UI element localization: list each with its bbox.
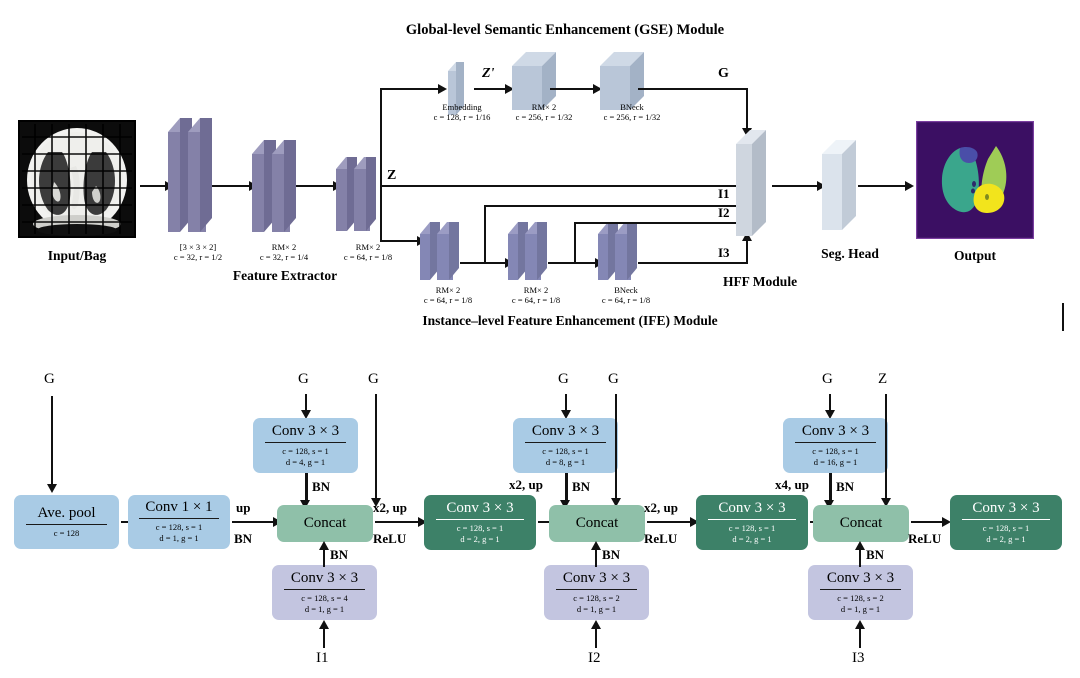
concat-1-label: Concat bbox=[304, 516, 347, 531]
fe-block-1-graphic bbox=[168, 118, 224, 240]
top-conv-3-rule bbox=[795, 442, 877, 443]
arrowhead-i2-into-bottomconv2 bbox=[591, 620, 601, 629]
edge-label-bn-bottomconv2: BN bbox=[602, 547, 620, 563]
line-z-to-hff bbox=[380, 185, 744, 187]
arrowhead-bottomconv3-to-concat3 bbox=[855, 541, 865, 550]
bottom-input-g-5: G bbox=[608, 371, 619, 388]
line-i1-right bbox=[484, 205, 742, 207]
bottom-input-i1: I1 bbox=[316, 650, 329, 667]
gse-module-title: Global-level Semantic Enhancement (GSE) … bbox=[330, 22, 800, 39]
edge-label-relu-3: ReLU bbox=[908, 531, 941, 547]
line-gse-to-g bbox=[638, 88, 748, 90]
label-i1: I1 bbox=[718, 186, 730, 202]
ife-block-3 bbox=[598, 222, 650, 284]
arrowhead-i1-into-bottomconv1 bbox=[319, 620, 329, 629]
feature-extractor-block-2 bbox=[252, 140, 308, 240]
arrow-embedding-to-rm bbox=[474, 88, 506, 90]
main-conv-box-3[interactable]: Conv 3 × 3 c = 128, s = 1 d = 2, g = 1 bbox=[950, 495, 1062, 550]
line-i2-into-bottomconv2 bbox=[595, 626, 597, 648]
gse-rm-caption: RM× 2 c = 256, r = 1/32 bbox=[498, 103, 590, 123]
bottom-conv-1-params: c = 128, s = 4 d = 1, g = 1 bbox=[297, 592, 351, 616]
arrow-input-to-fe1 bbox=[140, 185, 166, 187]
line-i3-into-bottomconv3 bbox=[859, 626, 861, 648]
label-g-gse: G bbox=[718, 66, 729, 82]
fe-block-2-graphic bbox=[252, 140, 308, 240]
bottom-conv-1-line1: c = 128, s = 4 bbox=[301, 593, 347, 604]
top-conv-2-params: c = 128, s = 1 d = 8, g = 1 bbox=[538, 445, 592, 469]
hff-module-title: HFF Module bbox=[700, 274, 820, 290]
bottom-conv-3-params: c = 128, s = 2 d = 1, g = 1 bbox=[833, 592, 887, 616]
feature-extractor-block-1 bbox=[168, 118, 224, 240]
bottom-conv-1-rule bbox=[284, 589, 366, 590]
feature-extractor-title: Feature Extractor bbox=[175, 268, 395, 284]
bottom-conv-3-line1: c = 128, s = 2 bbox=[837, 593, 883, 604]
arrow-hff-to-seghead bbox=[772, 185, 818, 187]
ave-pool-box[interactable]: Ave. pool c = 128 bbox=[14, 495, 119, 549]
top-conv-1-title: Conv 3 × 3 bbox=[262, 422, 349, 442]
main-conv-1-line2: d = 2, g = 1 bbox=[457, 534, 503, 545]
arrowhead-i3-into-bottomconv3 bbox=[855, 620, 865, 629]
ife-block-3-caption: BNeck c = 64, r = 1/8 bbox=[582, 286, 670, 306]
top-conv-2-line2: d = 8, g = 1 bbox=[542, 457, 588, 468]
ife-block-1-params: c = 64, r = 1/8 bbox=[404, 296, 492, 306]
z-split-vertical bbox=[380, 88, 382, 240]
edge-label-bn-topconv2: BN bbox=[572, 479, 590, 495]
top-conv-2-line1: c = 128, s = 1 bbox=[542, 446, 588, 457]
arrow-ife2-to-ife3 bbox=[548, 262, 596, 264]
label-z: Z bbox=[387, 168, 396, 184]
line-topconv2-to-concat2 bbox=[565, 473, 568, 503]
ife-module-title: Instance–level Feature Enhancement (IFE)… bbox=[350, 313, 790, 329]
bottom-input-g-1: G bbox=[44, 371, 55, 388]
top-conv-3-params: c = 128, s = 1 d = 16, g = 1 bbox=[808, 445, 862, 469]
edge-label-scale-topconv3: x4, up bbox=[775, 477, 809, 493]
bottom-conv-3-line2: d = 1, g = 1 bbox=[837, 604, 883, 615]
bottom-conv-3-rule bbox=[820, 589, 902, 590]
main-conv-2-line2: d = 2, g = 1 bbox=[729, 534, 775, 545]
main-conv-1-line1: c = 128, s = 1 bbox=[457, 523, 503, 534]
ife-block-3-params: c = 64, r = 1/8 bbox=[582, 296, 670, 306]
line-i1-up bbox=[484, 205, 486, 263]
bottom-conv-1-title: Conv 3 × 3 bbox=[281, 569, 368, 589]
concat-2-label: Concat bbox=[576, 516, 619, 531]
line-i3-up bbox=[746, 240, 748, 264]
line-bottomconv1-to-concat1 bbox=[323, 549, 325, 567]
top-conv-box-1[interactable]: Conv 3 × 3 c = 128, s = 1 d = 4, g = 1 bbox=[253, 418, 358, 473]
line-g3-down bbox=[375, 394, 377, 500]
arrow-ife1-to-ife2 bbox=[460, 262, 506, 264]
main-conv-3-title: Conv 3 × 3 bbox=[962, 499, 1049, 519]
fe-block-2-caption: RM× 2 c = 32, r = 1/4 bbox=[238, 243, 330, 263]
ife-block-1 bbox=[420, 222, 472, 284]
concat-3-label: Concat bbox=[840, 516, 883, 531]
conv1x1-params: c = 128, s = 1 d = 1, g = 1 bbox=[152, 521, 206, 545]
ct-scan-graphic bbox=[18, 120, 136, 238]
top-conv-1-line2: d = 4, g = 1 bbox=[282, 457, 328, 468]
conv1x1-line2: d = 1, g = 1 bbox=[156, 533, 202, 544]
fe-block-2-params: c = 32, r = 1/4 bbox=[238, 253, 330, 263]
edge-label-relu-2: ReLU bbox=[644, 531, 677, 547]
line-concat2-to-mainconv2 bbox=[647, 521, 691, 523]
conv1x1-line1: c = 128, s = 1 bbox=[156, 522, 202, 533]
fe-block-1-caption: [3 × 3 × 2] c = 32, r = 1/2 bbox=[150, 243, 246, 263]
input-bag-label: Input/Bag bbox=[18, 248, 136, 264]
bottom-conv-2-title: Conv 3 × 3 bbox=[553, 569, 640, 589]
bottom-conv-box-1[interactable]: Conv 3 × 3 c = 128, s = 4 d = 1, g = 1 bbox=[272, 565, 377, 620]
ife-block-1-graphic bbox=[420, 222, 472, 284]
ife-block-3-graphic bbox=[598, 222, 650, 284]
ife-block-2-params: c = 64, r = 1/8 bbox=[492, 296, 580, 306]
bottom-conv-2-line2: d = 1, g = 1 bbox=[573, 604, 619, 615]
concat-box-1[interactable]: Concat bbox=[277, 505, 373, 542]
bottom-input-i3: I3 bbox=[852, 650, 865, 667]
main-conv-box-1[interactable]: Conv 3 × 3 c = 128, s = 1 d = 2, g = 1 bbox=[424, 495, 536, 550]
line-topconv1-to-concat1 bbox=[305, 473, 308, 503]
edge-label-scale-1: x2, up bbox=[373, 500, 407, 516]
output-seg-graphic bbox=[916, 121, 1034, 239]
line-g5-down bbox=[615, 394, 617, 500]
seg-head-label: Seg. Head bbox=[800, 246, 900, 262]
line-topconv3-to-concat3 bbox=[829, 473, 832, 503]
ife-block-2-graphic bbox=[508, 222, 560, 284]
gse-rm-params: c = 256, r = 1/32 bbox=[498, 113, 590, 123]
label-z-prime: Z' bbox=[482, 66, 494, 82]
gse-embedding-caption: Embedding c = 128, r = 1/16 bbox=[412, 103, 512, 123]
main-conv-3-line1: c = 128, s = 1 bbox=[983, 523, 1029, 534]
arrow-seghead-to-output bbox=[858, 185, 906, 187]
fe-block-3-params: c = 64, r = 1/8 bbox=[322, 253, 414, 263]
main-conv-box-2[interactable]: Conv 3 × 3 c = 128, s = 1 d = 2, g = 1 bbox=[696, 495, 808, 550]
bottom-conv-2-line1: c = 128, s = 2 bbox=[573, 593, 619, 604]
main-conv-2-rule bbox=[708, 519, 795, 520]
arrowhead-seghead-to-output bbox=[905, 181, 914, 191]
ife-block-2 bbox=[508, 222, 560, 284]
main-conv-1-rule bbox=[436, 519, 523, 520]
seg-head-block bbox=[822, 140, 874, 240]
gse-bneck-params: c = 256, r = 1/32 bbox=[586, 113, 678, 123]
arrowhead-bottomconv2-to-concat2 bbox=[591, 541, 601, 550]
main-conv-2-title: Conv 3 × 3 bbox=[708, 499, 795, 519]
bottom-input-g-3: G bbox=[368, 371, 379, 388]
fe-block-3-caption: RM× 2 c = 64, r = 1/8 bbox=[322, 243, 414, 263]
main-conv-3-rule bbox=[962, 519, 1049, 520]
arrow-gse-rm-to-bneck bbox=[550, 88, 594, 90]
label-i3: I3 bbox=[718, 245, 730, 261]
gse-embedding-params: c = 128, r = 1/16 bbox=[412, 113, 512, 123]
bottom-input-i2: I2 bbox=[588, 650, 601, 667]
arrow-fe2-to-fe3 bbox=[296, 185, 334, 187]
top-conv-2-rule bbox=[525, 442, 607, 443]
input-ct-image bbox=[18, 120, 136, 238]
top-conv-2-title: Conv 3 × 3 bbox=[522, 422, 609, 442]
line-i2-right bbox=[574, 222, 742, 224]
label-i2: I2 bbox=[718, 205, 730, 221]
gse-bneck-caption: BNeck c = 256, r = 1/32 bbox=[586, 103, 678, 123]
seg-head-graphic bbox=[822, 140, 874, 240]
bottom-conv-2-rule bbox=[556, 589, 638, 590]
edge-label-bn-1: BN bbox=[234, 531, 252, 547]
arrowhead-bottomconv1-to-concat1 bbox=[319, 541, 329, 550]
line-concat3-to-mainconv3 bbox=[911, 521, 943, 523]
bottom-conv-3-title: Conv 3 × 3 bbox=[817, 569, 904, 589]
bottom-conv-box-3[interactable]: Conv 3 × 3 c = 128, s = 2 d = 1, g = 1 bbox=[808, 565, 913, 620]
line-g1-down bbox=[51, 396, 53, 486]
output-segmentation-image bbox=[916, 121, 1034, 239]
edge-label-scale-2: x2, up bbox=[644, 500, 678, 516]
bottom-input-g-6: G bbox=[822, 371, 833, 388]
arrow-z-to-embedding bbox=[380, 88, 440, 90]
line-i2-up bbox=[574, 222, 576, 263]
top-conv-1-line1: c = 128, s = 1 bbox=[282, 446, 328, 457]
edge-label-bn-bottomconv1: BN bbox=[330, 547, 348, 563]
main-conv-2-line1: c = 128, s = 1 bbox=[729, 523, 775, 534]
main-conv-2-params: c = 128, s = 1 d = 2, g = 1 bbox=[725, 522, 779, 546]
line-g-down-to-hff bbox=[746, 88, 748, 130]
main-conv-1-title: Conv 3 × 3 bbox=[436, 499, 523, 519]
concat-box-3[interactable]: Concat bbox=[813, 505, 909, 542]
main-conv-3-line2: d = 2, g = 1 bbox=[983, 534, 1029, 545]
page-edge-tick bbox=[1062, 303, 1064, 331]
edge-label-relu-1: ReLU bbox=[373, 531, 406, 547]
bottom-input-z: Z bbox=[878, 371, 887, 388]
line-z-down bbox=[885, 394, 887, 500]
top-conv-3-line2: d = 16, g = 1 bbox=[812, 457, 858, 468]
edge-label-bn-topconv1: BN bbox=[312, 479, 330, 495]
top-conv-1-params: c = 128, s = 1 d = 4, g = 1 bbox=[278, 445, 332, 469]
main-conv-3-params: c = 128, s = 1 d = 2, g = 1 bbox=[979, 522, 1033, 546]
ife-block-1-caption: RM× 2 c = 64, r = 1/8 bbox=[404, 286, 492, 306]
bottom-conv-1-line2: d = 1, g = 1 bbox=[301, 604, 347, 615]
arrowhead-z-to-embedding bbox=[438, 84, 447, 94]
arrow-fe1-to-fe2 bbox=[212, 185, 250, 187]
conv1x1-rule bbox=[139, 518, 219, 519]
top-conv-1-rule bbox=[265, 442, 347, 443]
line-bottomconv3-to-concat3 bbox=[859, 549, 861, 567]
ave-pool-params: c = 128 bbox=[50, 527, 84, 541]
bottom-input-g-2: G bbox=[298, 371, 309, 388]
line-concat1-to-mainconv1 bbox=[375, 521, 419, 523]
top-conv-box-2[interactable]: Conv 3 × 3 c = 128, s = 1 d = 8, g = 1 bbox=[513, 418, 618, 473]
top-conv-box-3[interactable]: Conv 3 × 3 c = 128, s = 1 d = 16, g = 1 bbox=[783, 418, 888, 473]
line-i3-right bbox=[638, 262, 748, 264]
ave-pool-rule bbox=[26, 524, 108, 525]
line-conv1x1-to-concat1 bbox=[232, 521, 274, 523]
arrowhead-g1-into-avepool bbox=[47, 484, 57, 493]
concat-box-2[interactable]: Concat bbox=[549, 505, 645, 542]
bottom-input-g-4: G bbox=[558, 371, 569, 388]
conv1x1-box[interactable]: Conv 1 × 1 c = 128, s = 1 d = 1, g = 1 bbox=[128, 495, 230, 549]
conv1x1-title: Conv 1 × 1 bbox=[135, 498, 222, 518]
bottom-conv-2-params: c = 128, s = 2 d = 1, g = 1 bbox=[569, 592, 623, 616]
edge-label-scale-topconv2: x2, up bbox=[509, 477, 543, 493]
line-bottomconv2-to-concat2 bbox=[595, 549, 597, 567]
bottom-conv-box-2[interactable]: Conv 3 × 3 c = 128, s = 2 d = 1, g = 1 bbox=[544, 565, 649, 620]
edge-label-up-1: up bbox=[236, 500, 250, 516]
main-conv-1-params: c = 128, s = 1 d = 2, g = 1 bbox=[453, 522, 507, 546]
fe-block-1-params: c = 32, r = 1/2 bbox=[150, 253, 246, 263]
output-label: Output bbox=[916, 248, 1034, 264]
ife-block-2-caption: RM× 2 c = 64, r = 1/8 bbox=[492, 286, 580, 306]
arrow-z-to-ife bbox=[380, 240, 418, 242]
ave-pool-title: Ave. pool bbox=[27, 504, 105, 524]
edge-label-bn-topconv3: BN bbox=[836, 479, 854, 495]
top-conv-3-title: Conv 3 × 3 bbox=[792, 422, 879, 442]
line-i1-into-bottomconv1 bbox=[323, 626, 325, 648]
top-conv-3-line1: c = 128, s = 1 bbox=[812, 446, 858, 457]
edge-label-bn-bottomconv3: BN bbox=[866, 547, 884, 563]
